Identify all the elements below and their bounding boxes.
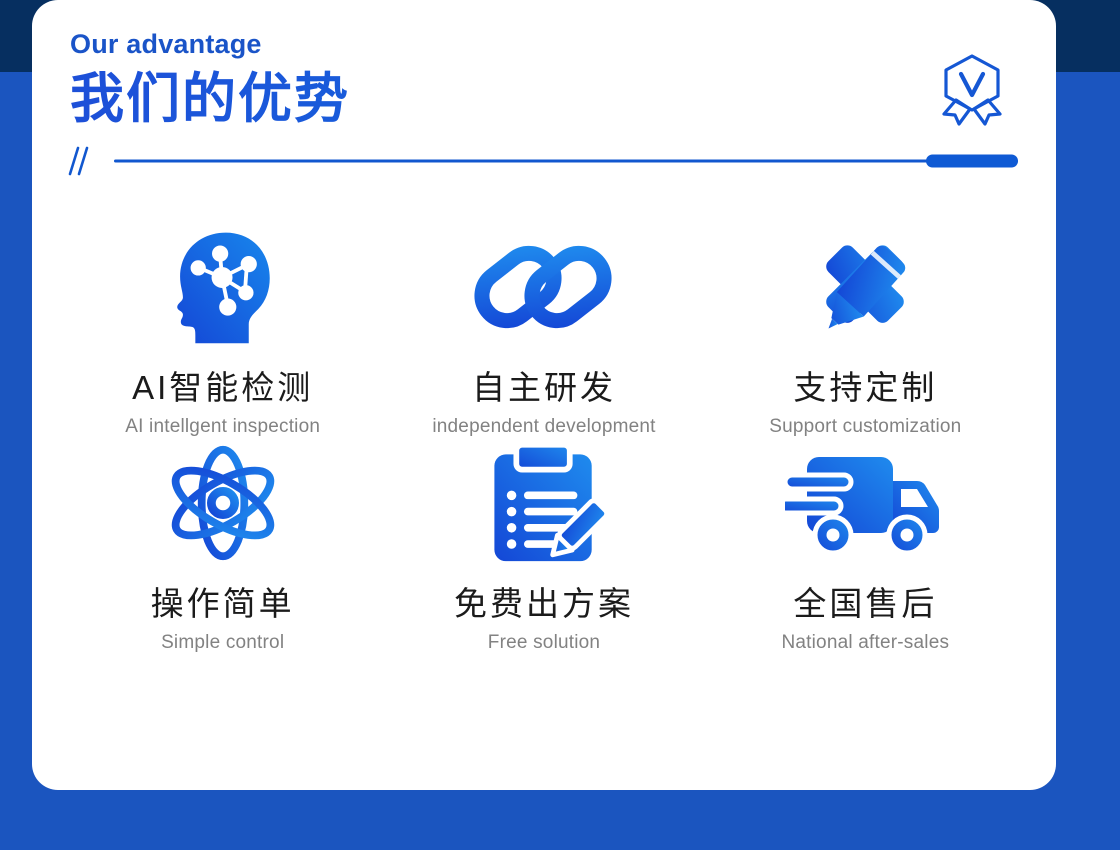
- eyebrow-text: Our advantage: [70, 30, 1018, 60]
- header-divider-row: [32, 144, 1056, 178]
- feature-title-cn: AI智能检测: [132, 370, 313, 406]
- feature-title-cn: 自主研发: [472, 370, 616, 406]
- chain-links-icon: [469, 222, 619, 352]
- divider-end-cap: [926, 154, 1018, 167]
- double-slash-icon: [66, 144, 100, 178]
- feature-item[interactable]: AI智能检测 AI intellgent inspection: [62, 222, 383, 438]
- feature-item[interactable]: 全国售后 National after-sales: [705, 438, 1026, 654]
- atom-icon: [160, 438, 286, 568]
- features-grid: AI智能检测 AI intellgent inspection: [32, 178, 1056, 685]
- feature-item[interactable]: 操作简单 Simple control: [62, 438, 383, 654]
- delivery-truck-icon: [785, 438, 945, 568]
- ai-brain-head-icon: [161, 222, 285, 352]
- feature-item[interactable]: 自主研发 independent development: [383, 222, 704, 438]
- feature-title-en: independent development: [432, 416, 655, 438]
- feature-title-cn: 全国售后: [793, 586, 937, 622]
- feature-title-cn: 支持定制: [793, 370, 937, 406]
- feature-title-en: Free solution: [488, 632, 600, 654]
- feature-item[interactable]: 免费出方案 Free solution: [383, 438, 704, 654]
- feature-title-en: Support customization: [769, 416, 961, 438]
- card-header: Our advantage 我们的优势: [32, 0, 1056, 130]
- feature-title-en: National after-sales: [781, 632, 949, 654]
- feature-item[interactable]: 支持定制 Support customization: [705, 222, 1026, 438]
- divider-thin-line: [114, 159, 1018, 162]
- clipboard-pencil-icon: [482, 438, 606, 568]
- feature-title-cn: 操作简单: [151, 586, 295, 622]
- feature-title-cn: 免费出方案: [454, 586, 634, 622]
- advantage-card: Our advantage 我们的优势: [32, 0, 1056, 790]
- feature-title-en: AI intellgent inspection: [125, 416, 320, 438]
- award-badge-icon: [934, 52, 1010, 128]
- pen-ruler-icon: [798, 222, 932, 352]
- page-title: 我们的优势: [70, 68, 1018, 130]
- feature-title-en: Simple control: [161, 632, 284, 654]
- divider-line: [114, 154, 1018, 168]
